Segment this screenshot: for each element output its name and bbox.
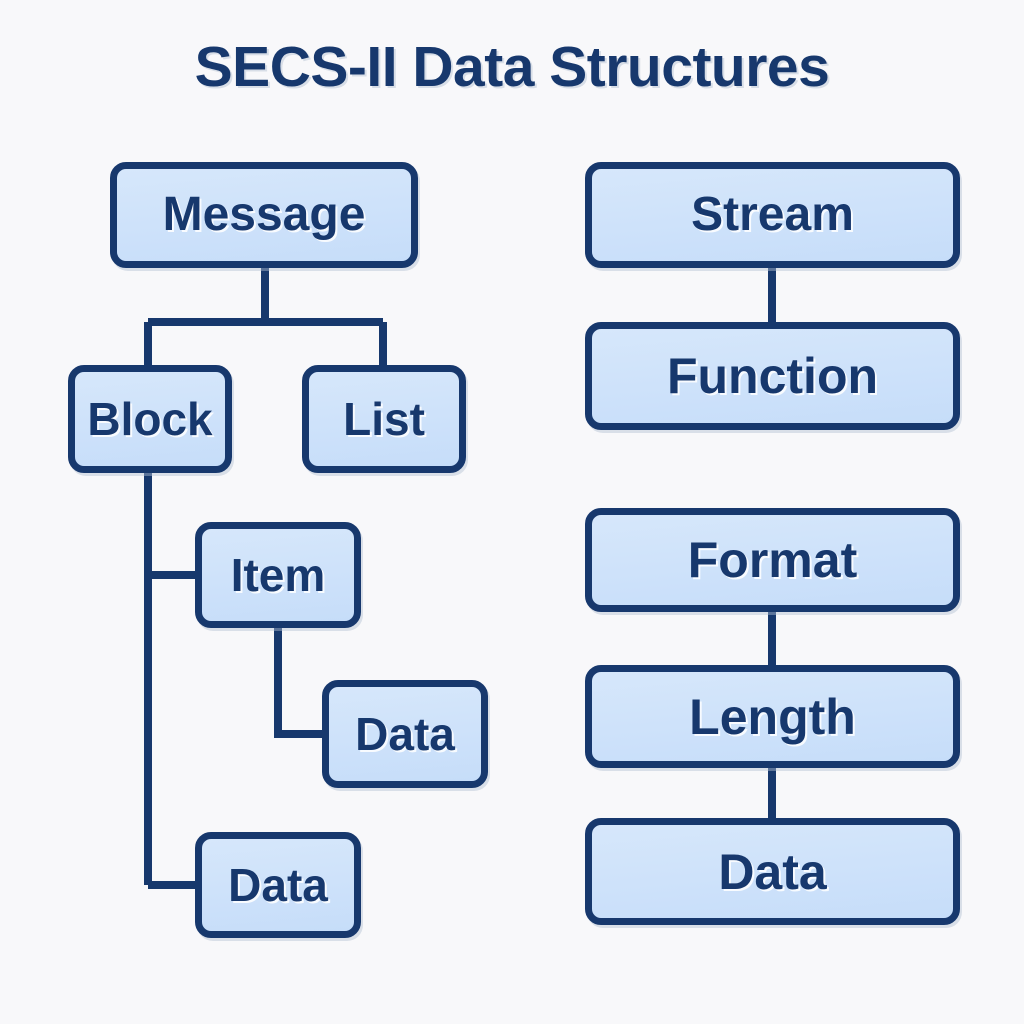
node-function[interactable]: Function [585, 322, 960, 430]
edge-item-to-data1 [278, 628, 324, 734]
node-format-label: Format [688, 535, 857, 585]
node-item-label: Item [231, 552, 326, 598]
node-stream[interactable]: Stream [585, 162, 960, 268]
diagram-canvas: SECS-II Data Structures Message Block [0, 0, 1024, 1024]
node-stream-label: Stream [691, 191, 854, 239]
node-list-label: List [343, 396, 425, 442]
node-message[interactable]: Message [110, 162, 418, 268]
node-item-data-label: Data [355, 711, 455, 757]
node-block-label: Block [87, 396, 212, 442]
node-message-label: Message [163, 191, 366, 239]
node-format[interactable]: Format [585, 508, 960, 612]
node-block[interactable]: Block [68, 365, 232, 473]
node-data-payload[interactable]: Data [585, 818, 960, 925]
node-block-data-label: Data [228, 862, 328, 908]
node-list[interactable]: List [302, 365, 466, 473]
node-length-label: Length [689, 692, 856, 742]
node-item-data[interactable]: Data [322, 680, 488, 788]
node-item[interactable]: Item [195, 522, 361, 628]
node-function-label: Function [667, 351, 878, 401]
node-block-data[interactable]: Data [195, 832, 361, 938]
node-length[interactable]: Length [585, 665, 960, 768]
node-data-payload-label: Data [718, 847, 826, 897]
